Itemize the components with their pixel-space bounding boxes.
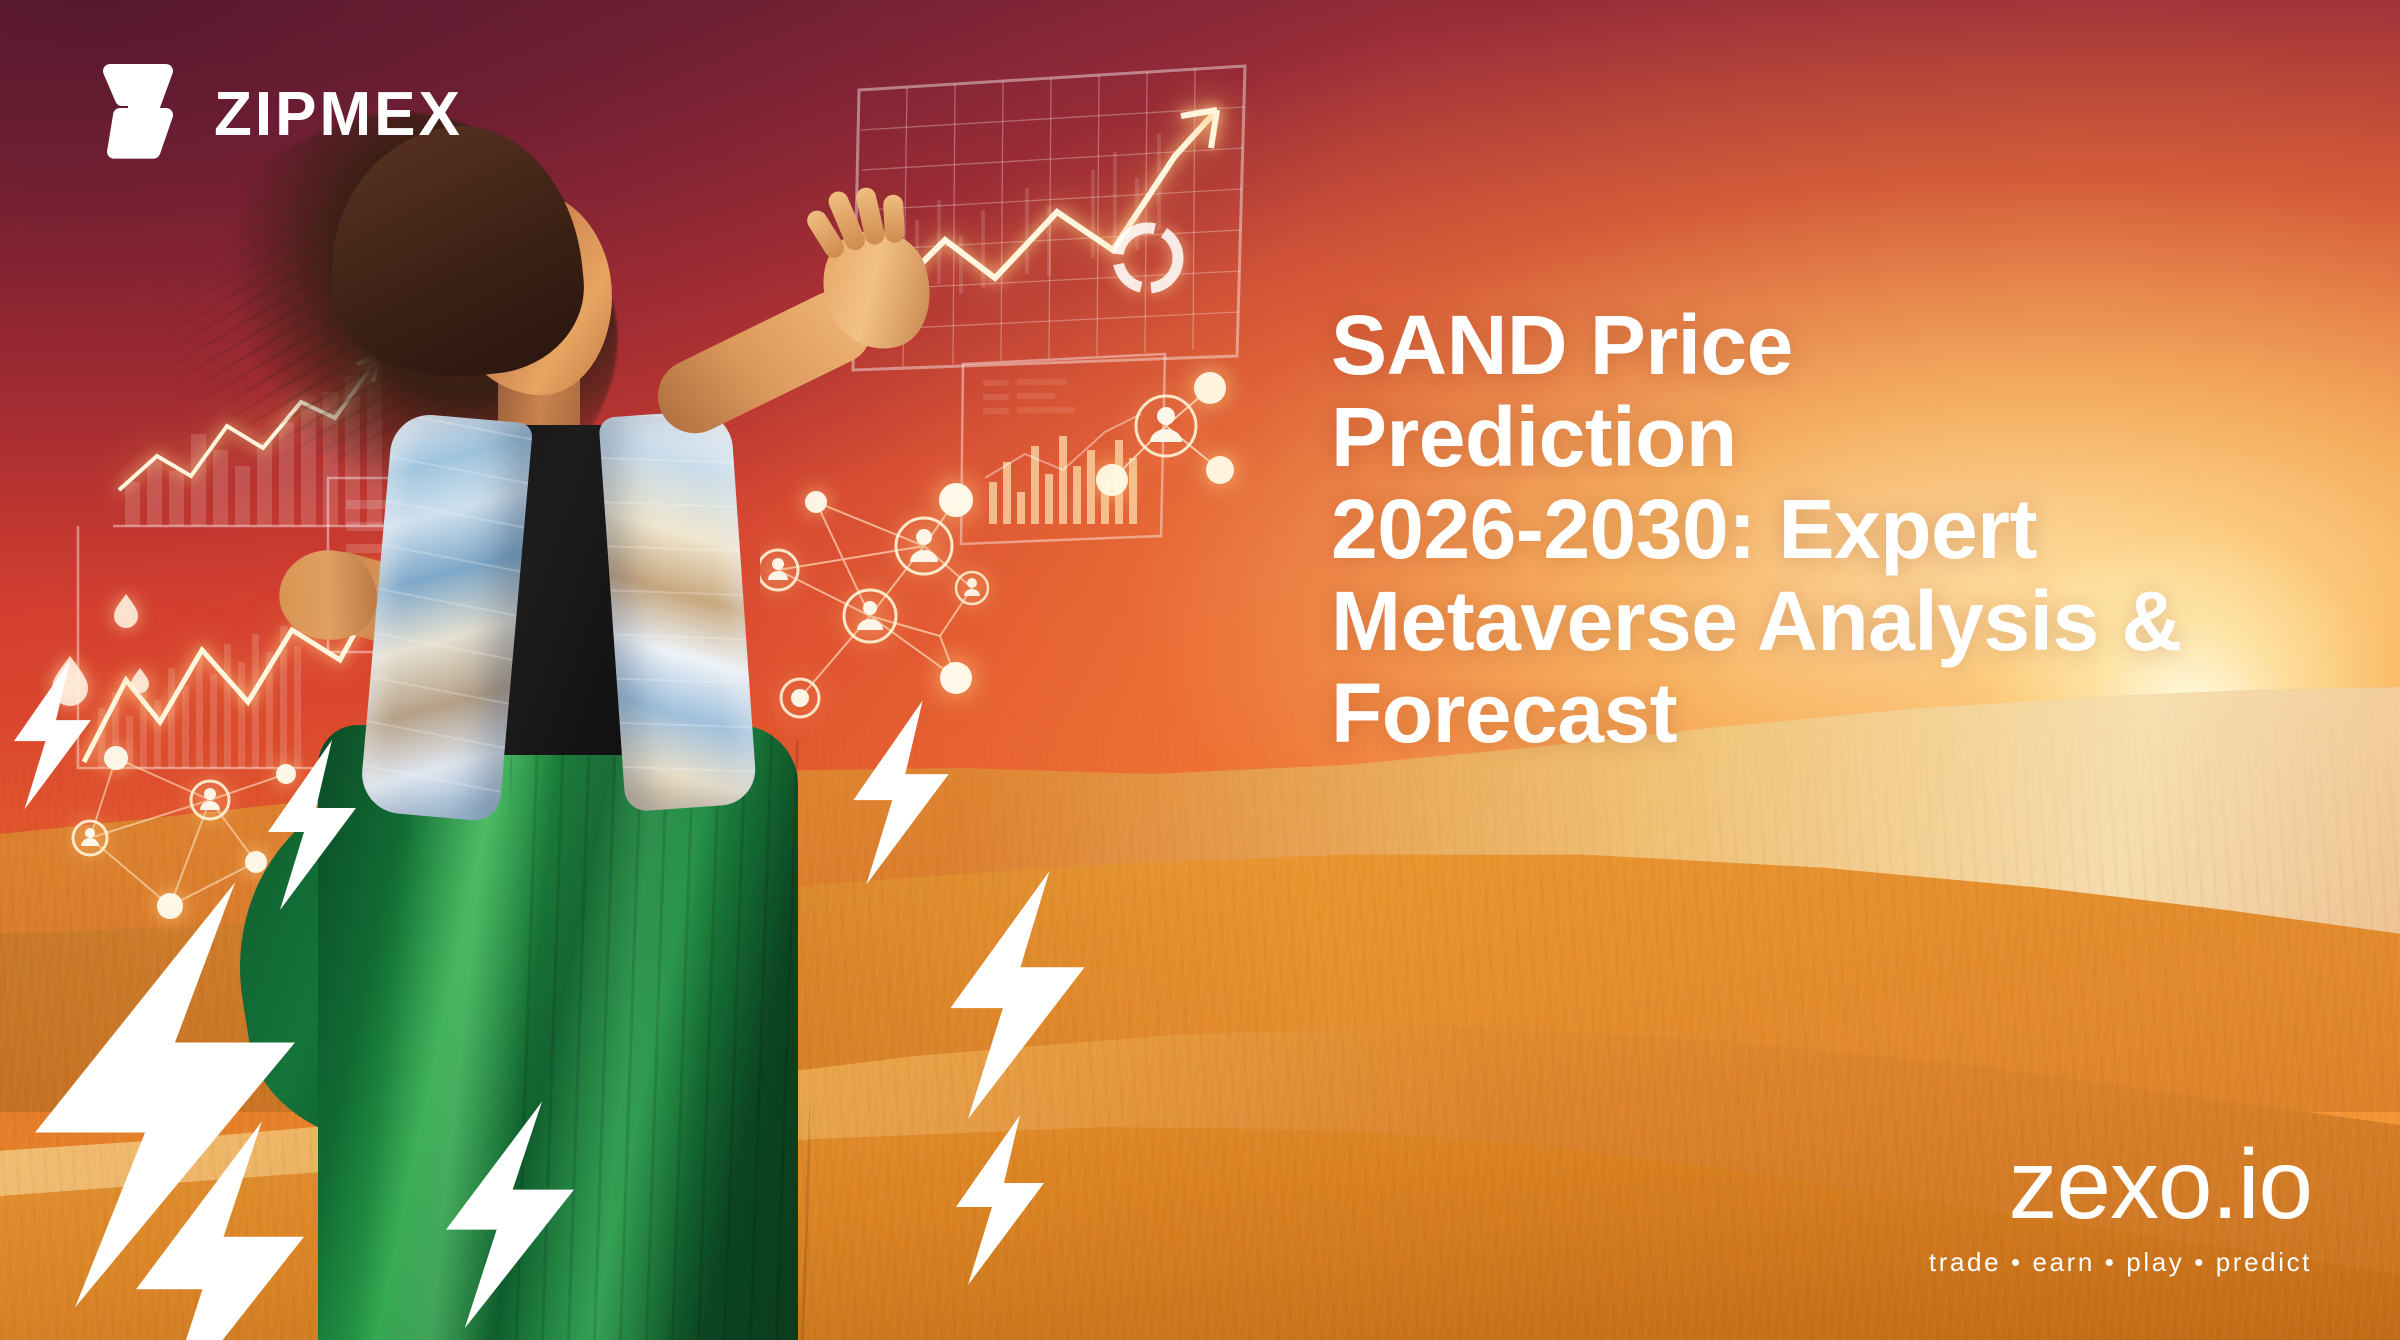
zipmex-wordmark: ZIPMEX <box>214 84 463 146</box>
headline-line-2: Prediction <box>1331 392 2341 484</box>
lightning-bolt-icon <box>0 660 105 810</box>
lightning-bolt-icon <box>836 700 966 885</box>
zipmex-bolt-mark-icon <box>88 62 180 168</box>
puffer-vest-right <box>598 409 757 812</box>
donut-chart-icon <box>1102 212 1194 304</box>
headline-line-5: Forecast <box>1331 668 2341 760</box>
zipmex-logo[interactable]: ZIPMEX <box>88 62 463 168</box>
headline-line-4: Metaverse Analysis & <box>1331 576 2341 668</box>
headline-line-3: 2026-2030: Expert <box>1331 484 2341 576</box>
network-nodes-icon-upper <box>1070 330 1270 530</box>
headline: SAND Price Prediction 2026-2030: Expert … <box>1331 300 2341 760</box>
lightning-bolt-icon <box>940 1115 1060 1285</box>
zexo-tagline: trade • earn • play • predict <box>1929 1247 2312 1278</box>
lightning-bolt-icon <box>115 1120 325 1340</box>
zexo-wordmark: zexo.io <box>1929 1135 2312 1233</box>
banner-canvas: ZIPMEX SAND Price Prediction 2026-2030: … <box>0 0 2400 1340</box>
headline-line-1: SAND Price <box>1331 300 2341 392</box>
lightning-bolt-icon <box>430 1095 590 1335</box>
lightning-bolt-icon <box>930 870 1105 1120</box>
zexo-logo[interactable]: zexo.io trade • earn • play • predict <box>1929 1135 2312 1278</box>
